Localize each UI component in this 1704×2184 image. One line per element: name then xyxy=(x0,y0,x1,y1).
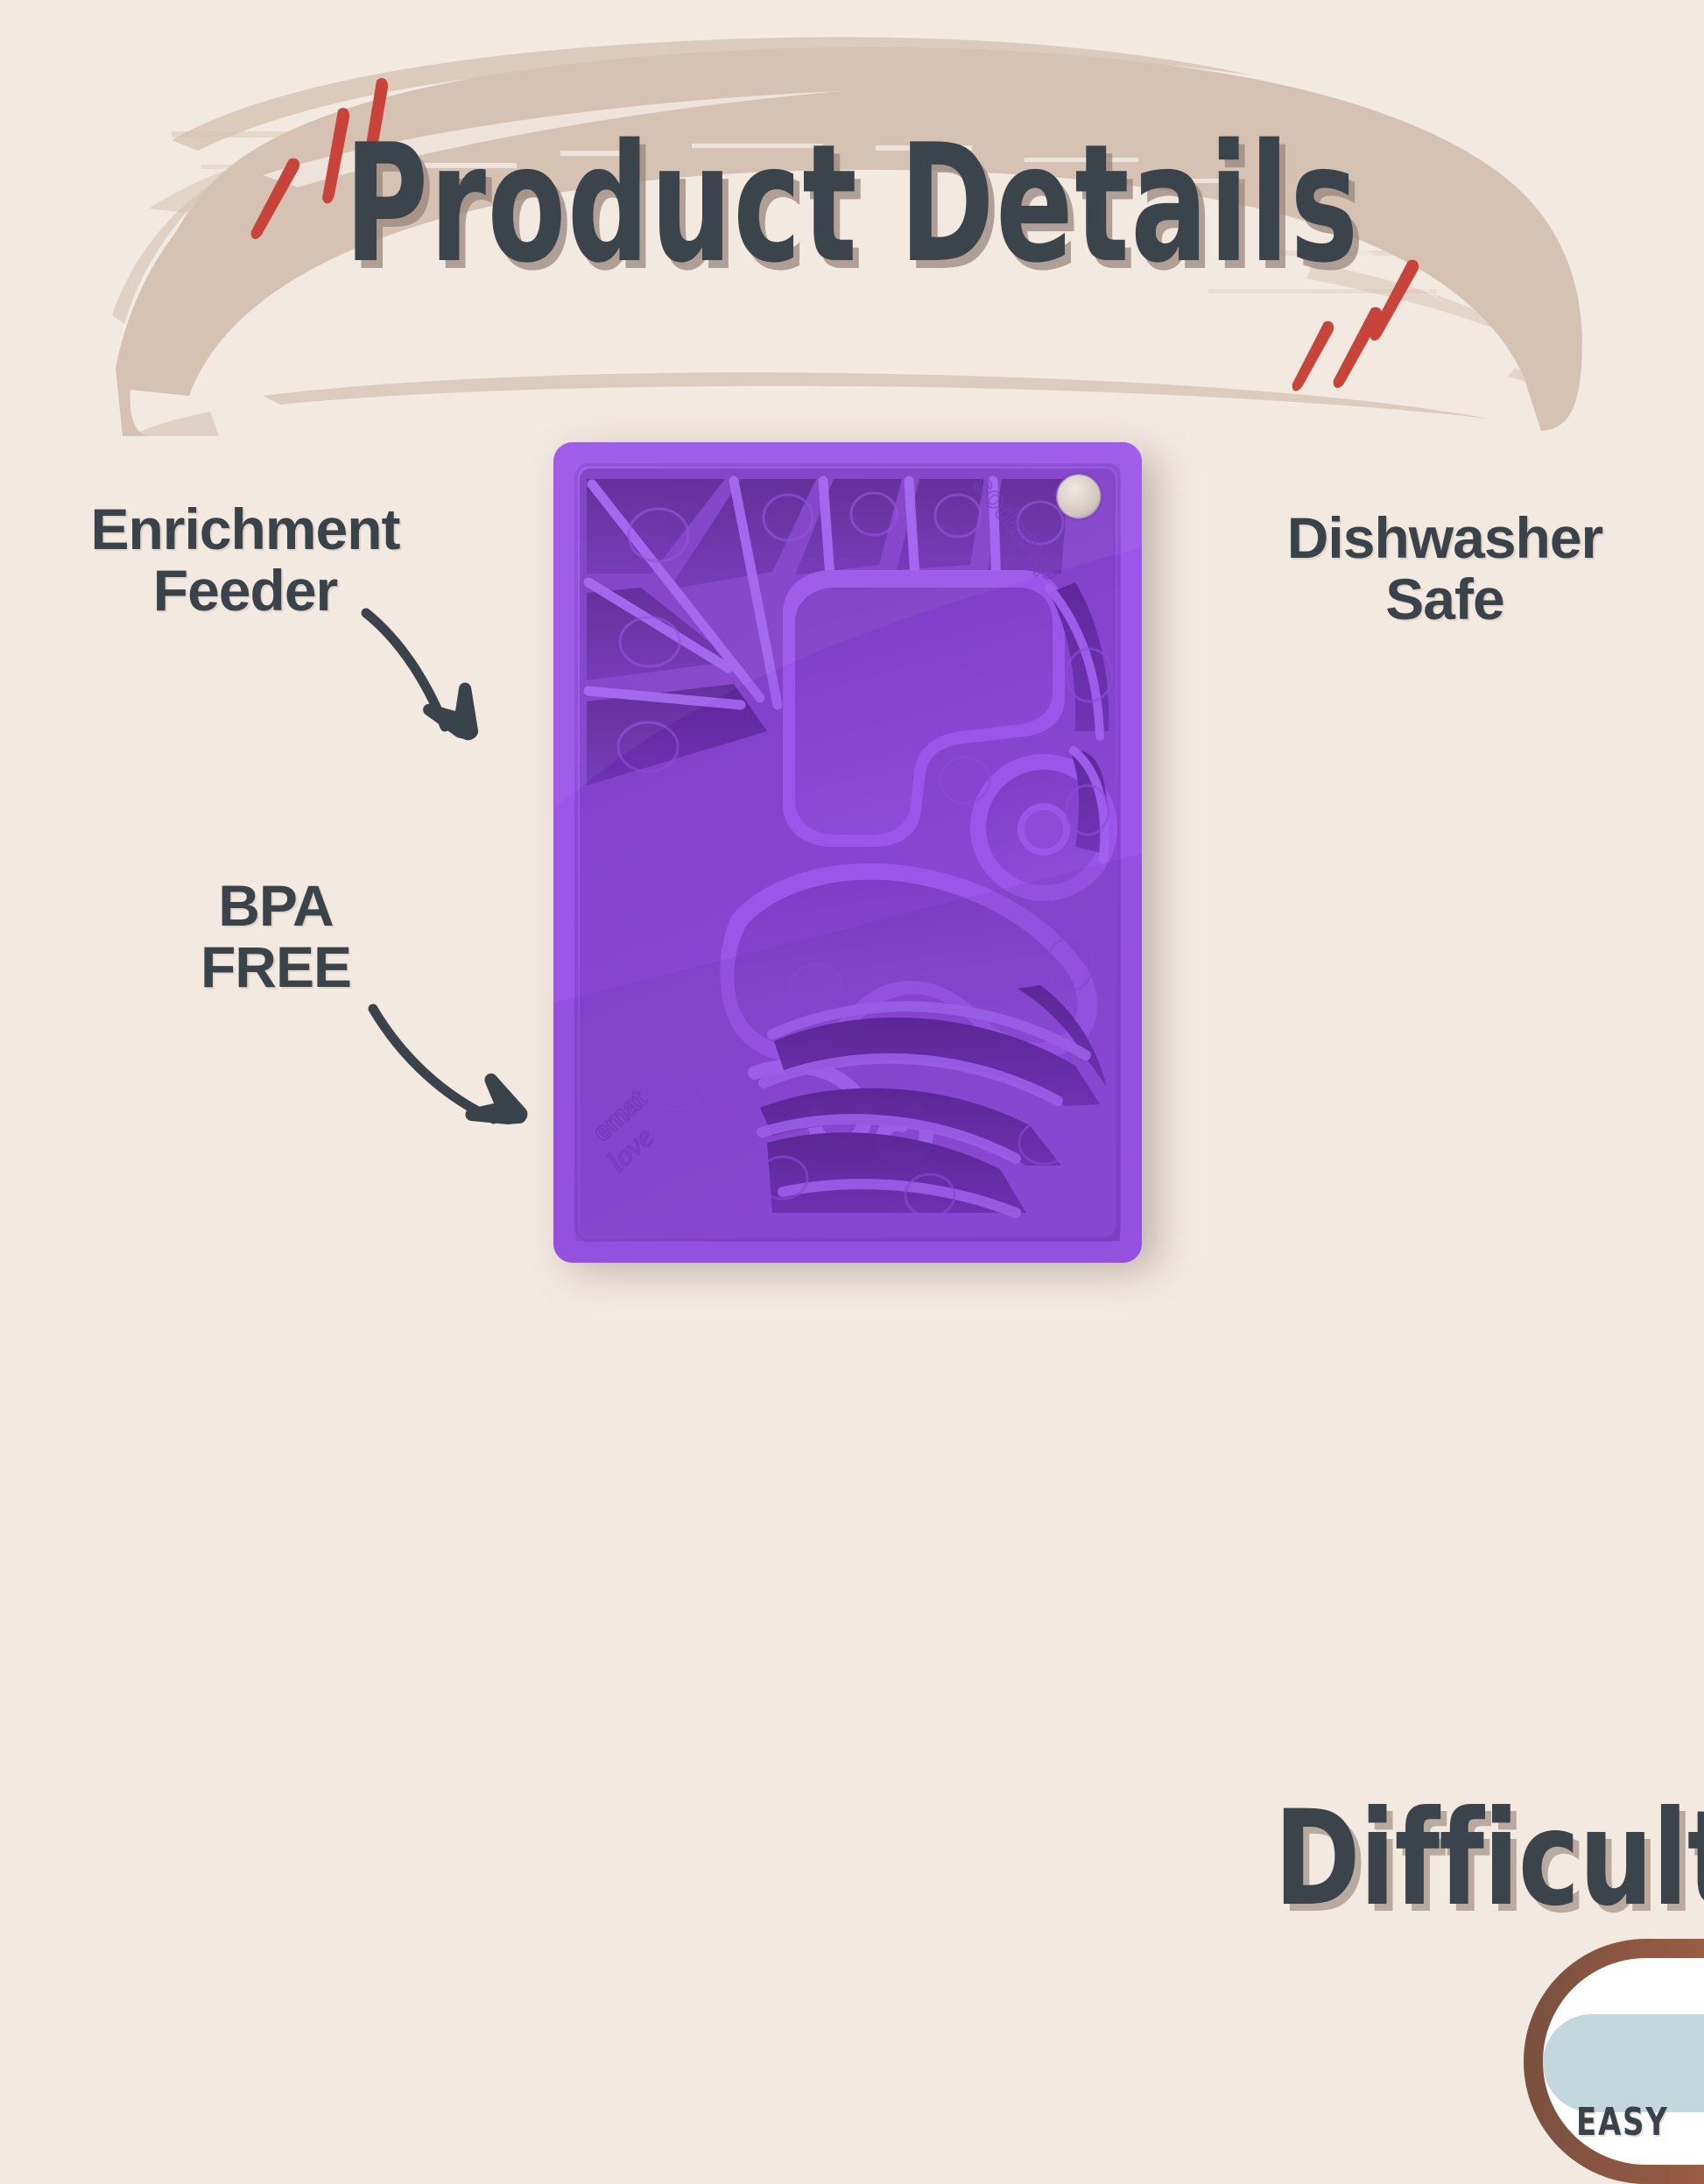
difficulty-heading: Difficulty xyxy=(1274,1793,1704,1925)
feature-label-enrichment-feeder: Enrichment Feeder xyxy=(35,499,455,622)
feature-line: Safe xyxy=(1226,569,1664,631)
feature-line: Enrichment xyxy=(35,499,455,560)
arrow-to-bpa-free xyxy=(359,998,578,1165)
difficulty-level-labels: EASY MODERATE HARD xyxy=(1543,2091,1704,2144)
page-title: Product Details xyxy=(344,123,1359,285)
infographic-canvas: Product Details xyxy=(0,0,1704,1704)
difficulty-meter: EASY MODERATE HARD xyxy=(1524,1939,1704,2184)
arrow-to-enrichment-feeder xyxy=(350,604,560,779)
level-label-easy: EASY xyxy=(1576,2103,1669,2144)
feature-label-dishwasher-safe: Dishwasher Safe Promotes Fresh Breath Di… xyxy=(1226,508,1664,631)
feature-line: BPA xyxy=(131,876,420,937)
product-image-lick-mat: sodapup emat love xyxy=(553,442,1142,1263)
feature-label-bpa-free: BPA FREE xyxy=(131,876,420,998)
feature-line: Feeder xyxy=(35,560,455,622)
feature-line: Dishwasher xyxy=(1226,508,1664,569)
feature-line: FREE xyxy=(131,937,420,998)
page-title-wrapper: Product Details xyxy=(0,123,1704,285)
